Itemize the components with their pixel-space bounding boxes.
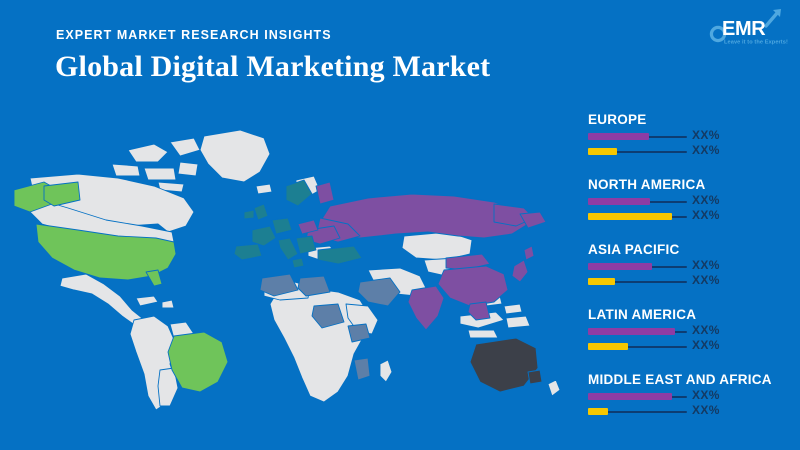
legend-region-north-america[interactable]: NORTH AMERICA XX% XX%	[588, 177, 794, 242]
bar-row-purple: XX%	[588, 326, 794, 341]
logo-arrow-icon	[766, 9, 781, 26]
svg-text:EMR: EMR	[722, 18, 766, 40]
bar-value-label: XX%	[692, 388, 720, 402]
eyebrow-text: EXPERT MARKET RESEARCH INSIGHTS	[56, 28, 332, 42]
bar-fill-yellow	[588, 148, 617, 155]
bar-fill-yellow	[588, 408, 608, 415]
bar-row-purple: XX%	[588, 196, 794, 211]
region-label: EUROPE	[588, 112, 794, 128]
bar-value-label: XX%	[692, 208, 720, 222]
bar-fill-yellow	[588, 343, 628, 350]
bar-row-yellow: XX%	[588, 276, 794, 291]
bar-value-label: XX%	[692, 323, 720, 337]
bar-value-label: XX%	[692, 273, 720, 287]
bar-value-label: XX%	[692, 193, 720, 207]
region-label: ASIA PACIFIC	[588, 242, 794, 258]
bar-value-label: XX%	[692, 338, 720, 352]
bar-fill-yellow	[588, 213, 672, 220]
bar-fill-purple	[588, 328, 675, 335]
region-label: MIDDLE EAST AND AFRICA	[588, 372, 794, 388]
world-map	[8, 120, 568, 420]
legend-region-europe[interactable]: EUROPE XX% XX%	[588, 112, 794, 177]
bar-row-yellow: XX%	[588, 406, 794, 421]
bar-fill-purple	[588, 393, 672, 400]
bar-value-label: XX%	[692, 403, 720, 417]
map-dark-countries	[470, 338, 542, 392]
bar-fill-purple	[588, 263, 652, 270]
bar-fill-yellow	[588, 278, 615, 285]
region-label: NORTH AMERICA	[588, 177, 794, 193]
bar-value-label: XX%	[692, 258, 720, 272]
bar-fill-purple	[588, 133, 649, 140]
bar-row-yellow: XX%	[588, 146, 794, 161]
bar-row-purple: XX%	[588, 131, 794, 146]
region-legend: EUROPE XX% XX% NORTH AMERICA XX%	[588, 112, 794, 437]
emr-logo: EMR Leave it to the Experts!	[704, 4, 788, 48]
legend-region-asia-pacific[interactable]: ASIA PACIFIC XX% XX%	[588, 242, 794, 307]
bar-row-purple: XX%	[588, 391, 794, 406]
legend-region-middle-east-and-africa[interactable]: MIDDLE EAST AND AFRICA XX% XX%	[588, 372, 794, 437]
svg-text:Leave it to the Experts!: Leave it to the Experts!	[724, 40, 788, 46]
bar-row-yellow: XX%	[588, 341, 794, 356]
page-title: Global Digital Marketing Market	[55, 50, 490, 84]
bar-row-purple: XX%	[588, 261, 794, 276]
bar-value-label: XX%	[692, 128, 720, 142]
bar-fill-purple	[588, 198, 650, 205]
bar-row-yellow: XX%	[588, 211, 794, 226]
legend-region-latin-america[interactable]: LATIN AMERICA XX% XX%	[588, 307, 794, 372]
region-label: LATIN AMERICA	[588, 307, 794, 323]
infographic-canvas: EXPERT MARKET RESEARCH INSIGHTS Global D…	[0, 0, 800, 450]
bar-value-label: XX%	[692, 143, 720, 157]
